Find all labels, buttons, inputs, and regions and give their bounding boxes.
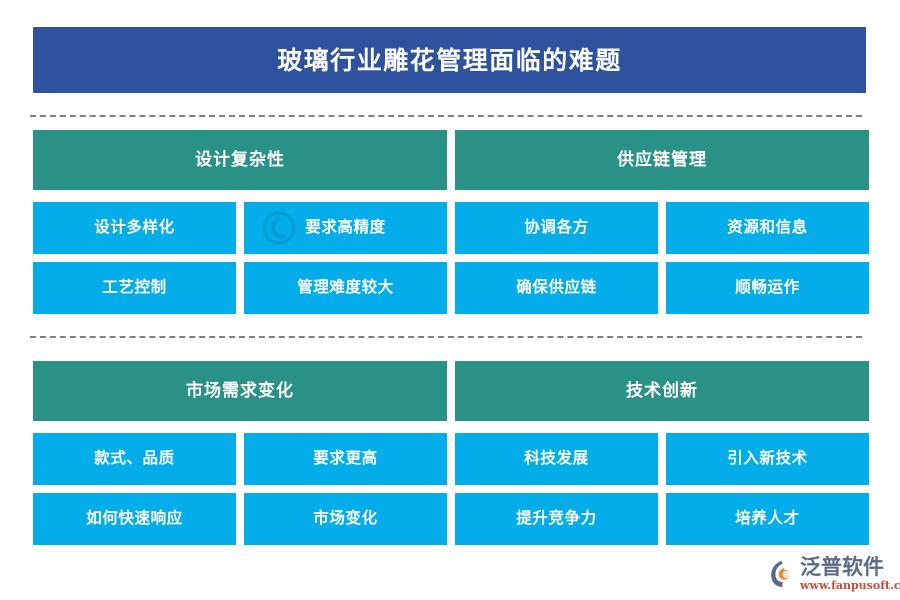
section-supply-chain-management: 供应链管理 协调各方 资源和信息 确保供应链 顺畅运作 [455, 130, 869, 314]
tile-item[interactable]: 要求更高 [244, 433, 447, 485]
section-market-demand-change: 市场需求变化 款式、品质 要求更高 如何快速响应 市场变化 [33, 361, 447, 545]
tile-label: 管理难度较大 [297, 280, 394, 296]
section-header-label: 供应链管理 [617, 152, 707, 169]
brand-url: www.fanpusoft.com [800, 580, 900, 591]
section-header-market-demand-change[interactable]: 市场需求变化 [33, 361, 447, 421]
tile-item[interactable]: 工艺控制 [33, 262, 236, 314]
infographic-page: 玻璃行业雕花管理面临的难题 设计复杂性 设计多样化 要求高精度 工艺 [0, 0, 900, 600]
tile-item[interactable]: 管理难度较大 [244, 262, 447, 314]
tile-label: 要求高精度 [305, 220, 386, 236]
tile-label: 培养人才 [735, 511, 799, 527]
tile-item[interactable]: 提升竞争力 [455, 493, 658, 545]
brand-name: 泛普软件 [800, 557, 900, 578]
tile-grid-design-complexity: 设计多样化 要求高精度 工艺控制 管理难度较大 [33, 202, 447, 314]
tile-grid-supply-chain-management: 协调各方 资源和信息 确保供应链 顺畅运作 [455, 202, 869, 314]
section-header-technology-innovation[interactable]: 技术创新 [455, 361, 869, 421]
tile-label: 提升竞争力 [516, 511, 597, 527]
tile-label: 资源和信息 [727, 220, 808, 236]
tile-item[interactable]: 市场变化 [244, 493, 447, 545]
tile-item[interactable]: 科技发展 [455, 433, 658, 485]
tile-item[interactable]: 如何快速响应 [33, 493, 236, 545]
tile-item[interactable]: 款式、品质 [33, 433, 236, 485]
tile-label: 市场变化 [313, 511, 377, 527]
section-header-supply-chain-management[interactable]: 供应链管理 [455, 130, 869, 190]
section-header-label: 技术创新 [626, 383, 698, 400]
tile-item[interactable]: 资源和信息 [666, 202, 869, 254]
tile-item[interactable]: 培养人才 [666, 493, 869, 545]
section-header-label: 设计复杂性 [195, 152, 285, 169]
tile-item[interactable]: 设计多样化 [33, 202, 236, 254]
page-title-banner: 玻璃行业雕花管理面临的难题 [33, 27, 866, 93]
section-design-complexity: 设计复杂性 设计多样化 要求高精度 工艺控制 管理难度较大 [33, 130, 447, 314]
tile-item[interactable]: 顺畅运作 [666, 262, 869, 314]
tile-grid-technology-innovation: 科技发展 引入新技术 提升竞争力 培养人才 [455, 433, 869, 545]
fanpu-swoosh-watermark-icon [262, 211, 296, 245]
page-title: 玻璃行业雕花管理面临的难题 [277, 48, 622, 73]
tile-label: 工艺控制 [102, 280, 166, 296]
tile-label: 确保供应链 [516, 280, 597, 296]
fanpu-swoosh-logo-icon [766, 558, 798, 590]
tile-item[interactable]: 引入新技术 [666, 433, 869, 485]
brand-texts: 泛普软件 www.fanpusoft.com [800, 557, 900, 591]
divider-top [30, 115, 862, 117]
tile-label: 顺畅运作 [735, 280, 799, 296]
section-header-label: 市场需求变化 [186, 383, 294, 400]
tile-item[interactable]: 确保供应链 [455, 262, 658, 314]
tile-label: 引入新技术 [727, 451, 808, 467]
tile-label: 科技发展 [524, 451, 588, 467]
tile-item[interactable]: 协调各方 [455, 202, 658, 254]
tile-grid-market-demand-change: 款式、品质 要求更高 如何快速响应 市场变化 [33, 433, 447, 545]
tile-label: 款式、品质 [94, 451, 175, 467]
section-header-design-complexity[interactable]: 设计复杂性 [33, 130, 447, 190]
tile-label: 如何快速响应 [86, 511, 183, 527]
tile-item[interactable]: 要求高精度 [244, 202, 447, 254]
tile-label: 要求更高 [313, 451, 377, 467]
divider-middle [30, 336, 862, 338]
tile-label: 设计多样化 [94, 220, 175, 236]
brand-logo: 泛普软件 www.fanpusoft.com [766, 551, 892, 597]
tile-label: 协调各方 [524, 220, 588, 236]
section-technology-innovation: 技术创新 科技发展 引入新技术 提升竞争力 培养人才 [455, 361, 869, 545]
